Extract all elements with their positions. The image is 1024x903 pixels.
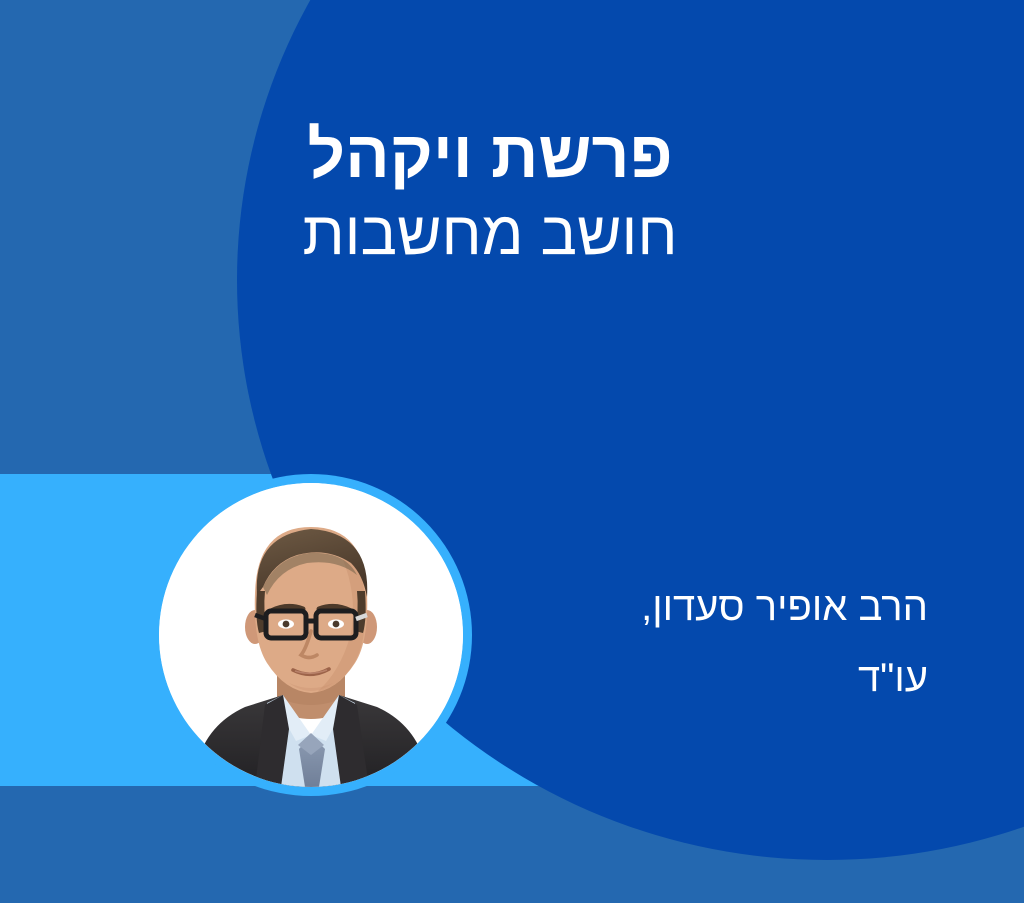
speaker-name-line-1: הרב אופיר סעדון, [598,572,928,643]
page-title: פרשת ויקהל [250,118,730,192]
portrait-photo [159,483,463,787]
speaker-name: הרב אופיר סעדון, עו"ד [598,572,928,714]
page-subtitle: חושב מחשבות [250,198,730,270]
portrait-avatar [150,474,472,796]
headline-block: פרשת ויקהל חושב מחשבות [250,118,730,270]
speaker-name-line-2: עו"ד [598,643,928,714]
portrait-disc [159,483,463,787]
lecture-title-slide: פרשת ויקהל חושב מחשבות הרב אופיר סעדון, … [0,0,1024,903]
